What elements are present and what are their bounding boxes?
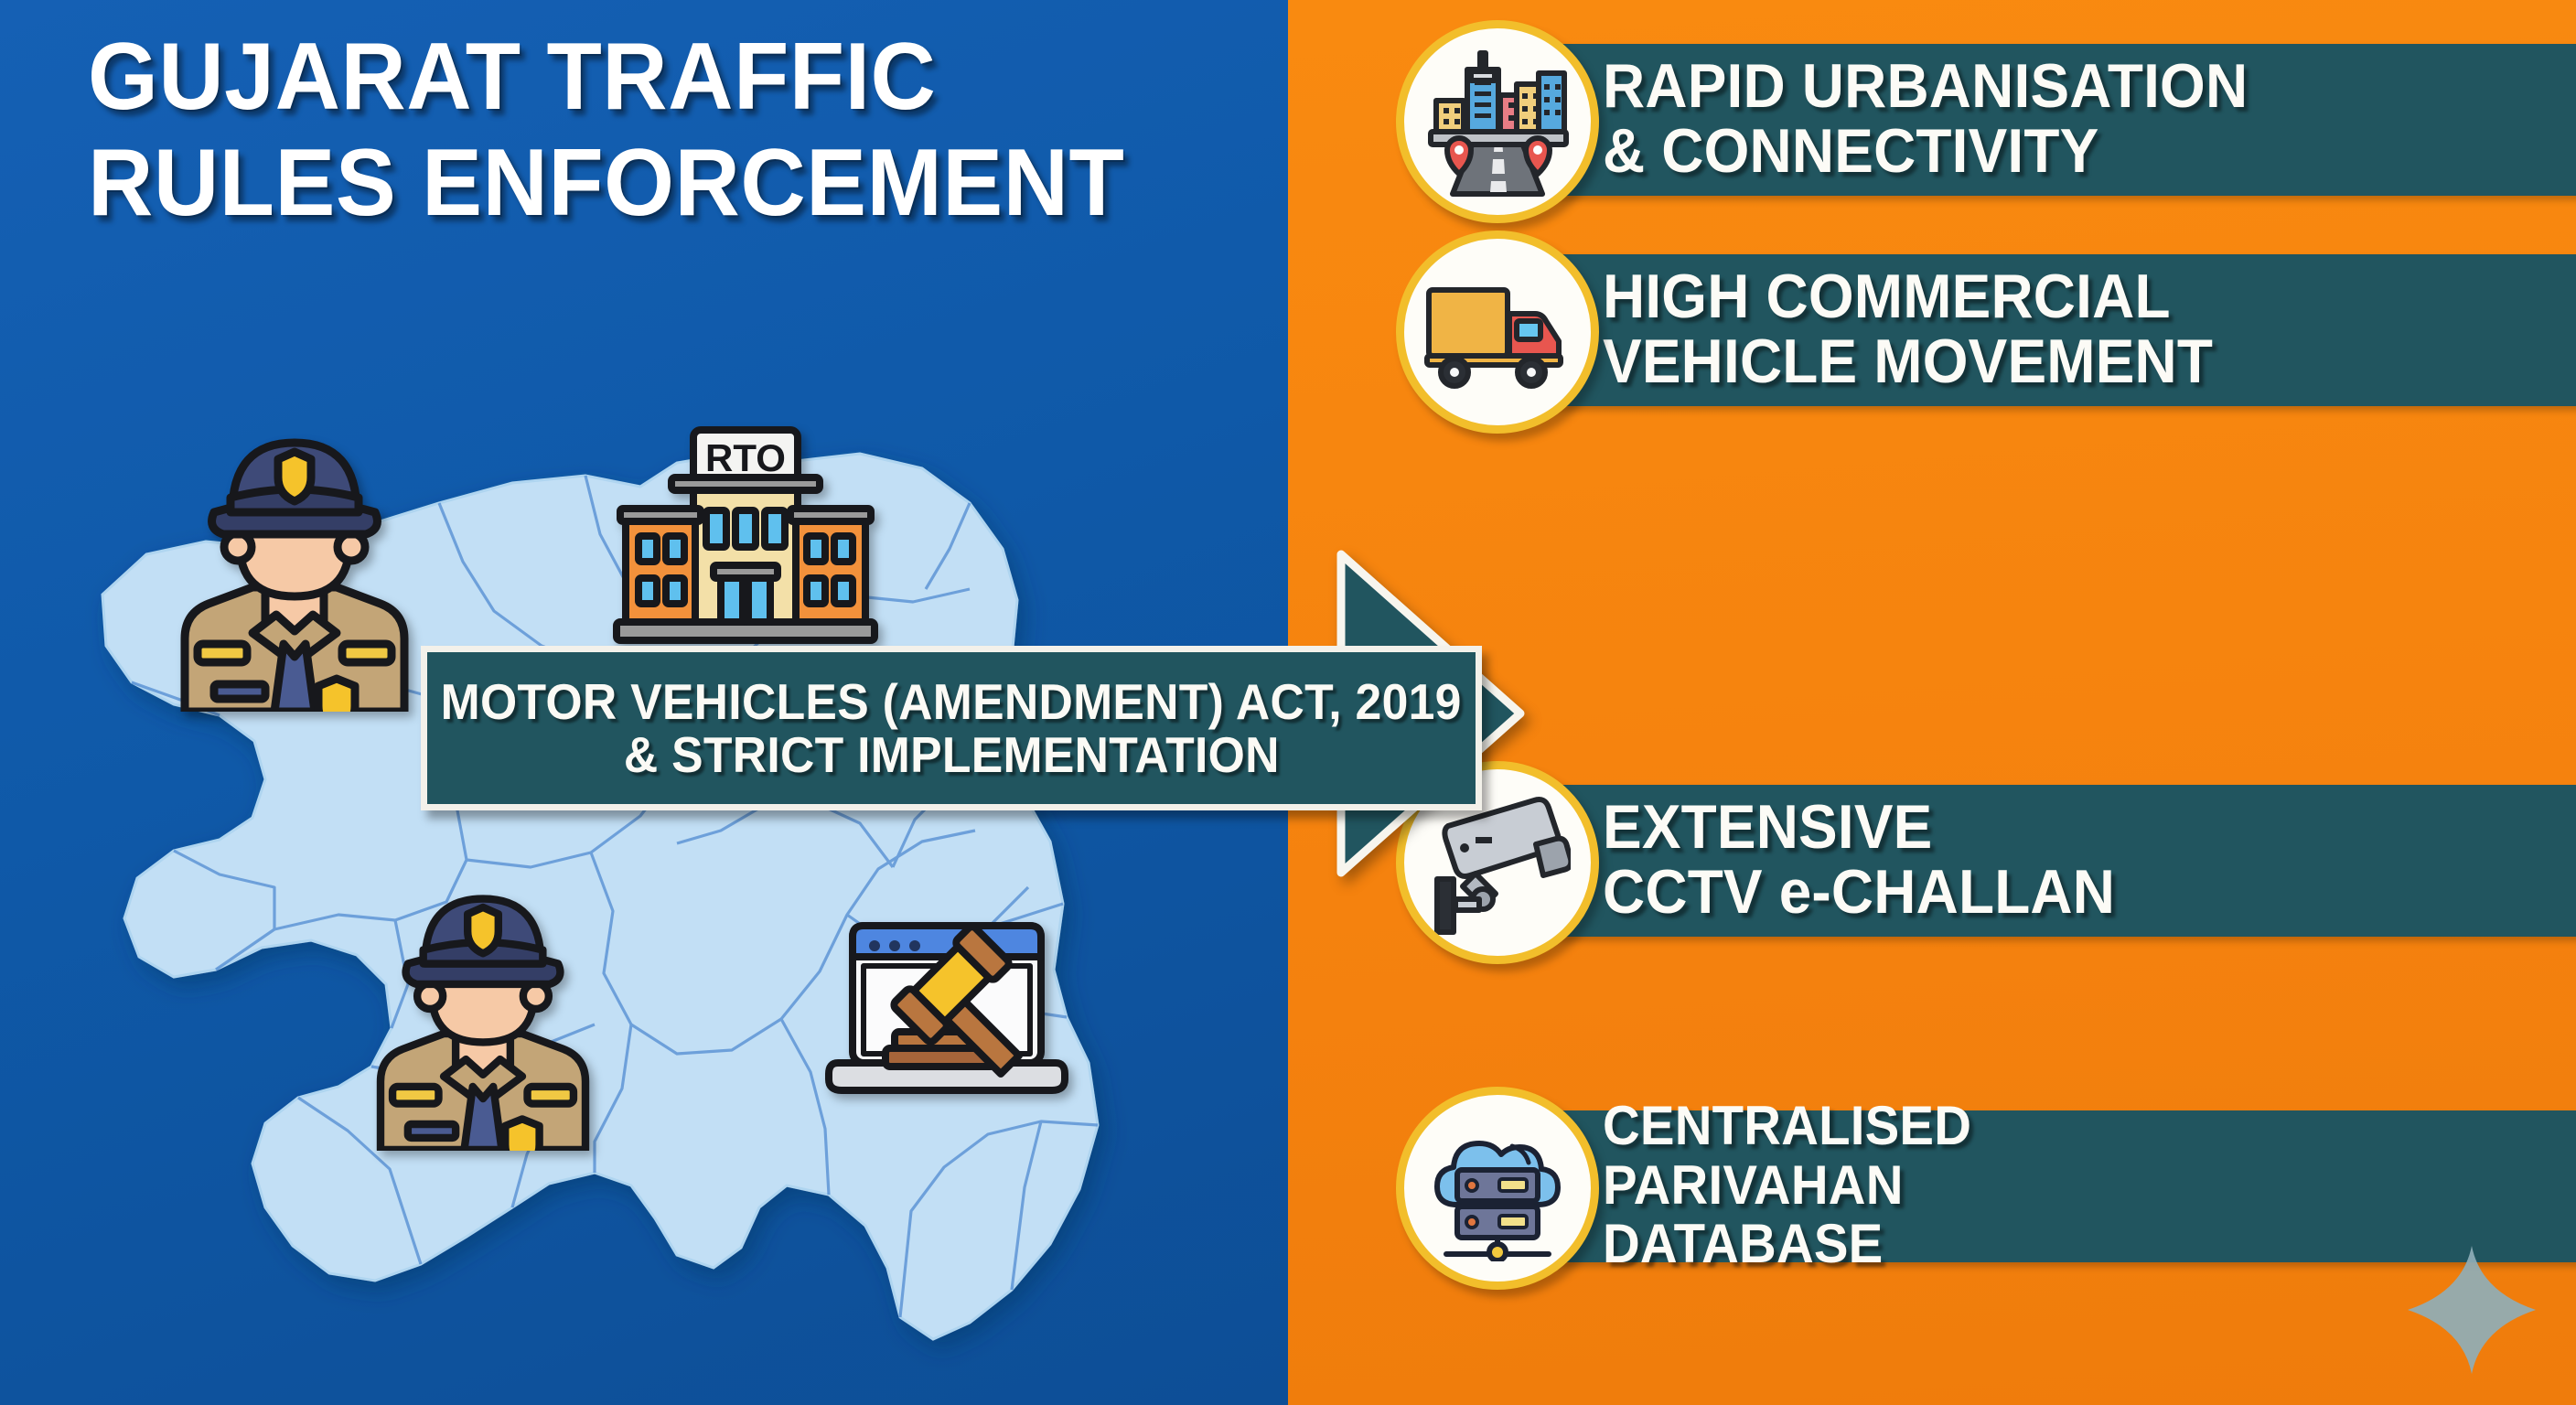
e-justice-gavel-laptop-icon [823,915,1070,1125]
driver-label-line-2: CCTV e-CHALLAN [1603,860,2514,925]
driver-label-line-1: HIGH COMMERCIAL [1603,264,2514,329]
driver-label: HIGH COMMERCIAL VEHICLE MOVEMENT [1603,223,2572,435]
driver-label-line-1: CENTRALISED [1603,1097,2514,1156]
infographic-canvas: GUJARAT TRAFFIC RULES ENFORCEMENT [0,0,2576,1405]
title-line-2: RULES ENFORCEMENT [88,137,1183,231]
rto-sign-text: RTO [705,436,786,479]
driver-label-line-3: DATABASE [1603,1215,2514,1274]
traffic-police-officer-icon-2 [355,867,611,1151]
driver-label-line-2: VEHICLE MOVEMENT [1603,329,2514,394]
act-banner: MOTOR VEHICLES (AMENDMENT) ACT, 2019 & S… [421,646,1482,810]
city-skyline-road-icon [1396,20,1599,223]
driver-label: EXTENSIVE CCTV e-CHALLAN [1603,754,2572,966]
driver-label-line-2: & CONNECTIVITY [1603,119,2514,184]
act-banner-line-2: & STRICT IMPLEMENTATION [624,728,1280,781]
traffic-police-officer-icon-1 [157,410,432,712]
rto-office-building-icon: RTO [604,421,887,659]
driver-label-line-2: PARIVAHAN [1603,1156,2514,1216]
title-line-1: GUJARAT TRAFFIC [88,31,1183,124]
page-title: GUJARAT TRAFFIC RULES ENFORCEMENT [88,31,1240,231]
driver-label: RAPID URBANISATION & CONNECTIVITY [1603,13,2572,225]
cloud-server-database-icon [1396,1087,1599,1290]
delivery-truck-icon [1396,231,1599,434]
driver-label-line-1: EXTENSIVE [1603,795,2514,860]
act-banner-line-1: MOTOR VEHICLES (AMENDMENT) ACT, 2019 [441,675,1462,728]
driver-label-line-1: RAPID URBANISATION [1603,54,2514,119]
four-point-sparkle-icon [2404,1242,2539,1378]
